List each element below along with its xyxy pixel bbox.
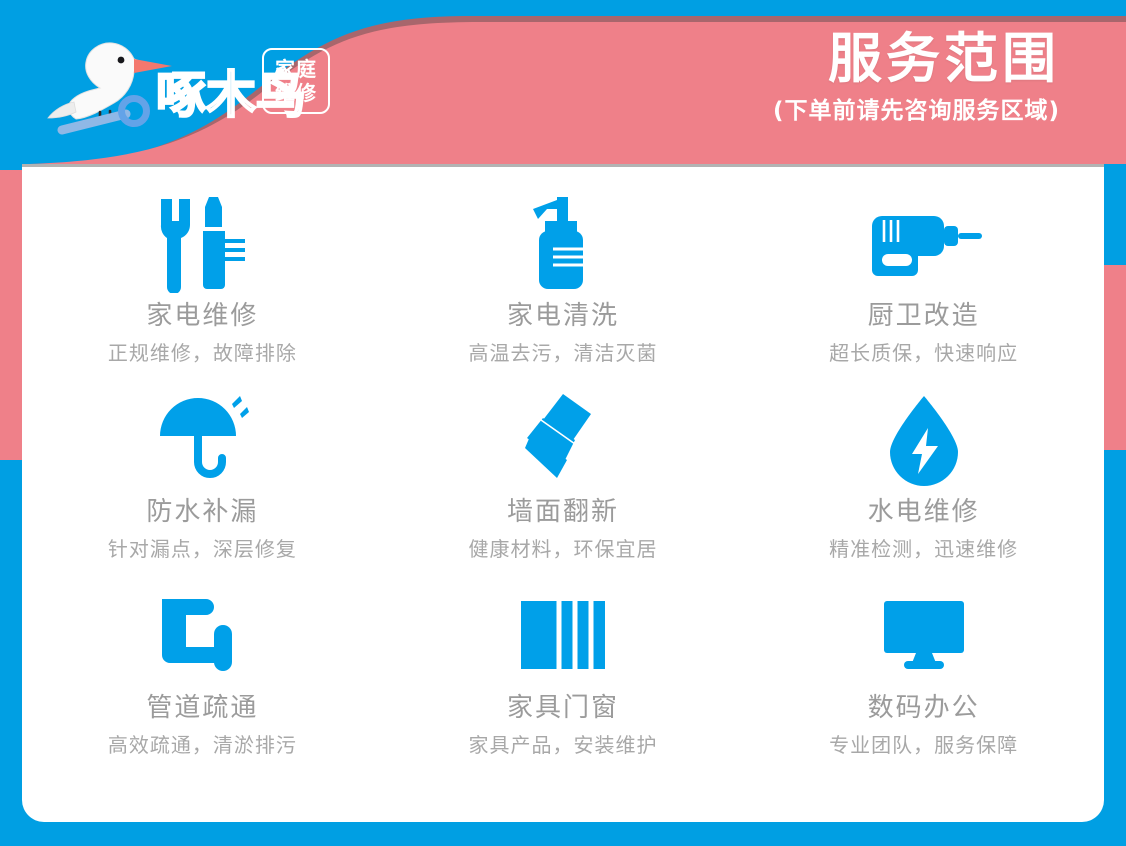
umbrella-icon [152,387,252,491]
water-drop-bolt-icon [882,387,966,491]
service-desc: 健康材料，环保宜居 [468,535,657,563]
service-desc: 超长质保，快速响应 [829,339,1018,367]
service-item-5[interactable]: 水电维修 精准检测，迅速维修 [743,387,1104,583]
service-title: 管道疏通 [146,691,258,725]
services-grid: 家电维修 正规维修，故障排除 [22,191,1104,779]
service-desc: 专业团队，服务保障 [829,731,1018,759]
header-banner: 啄木鸟 家庭 维修 服务范围 (下单前请先咨询服务区域) [0,0,1126,164]
service-item-6[interactable]: 管道疏通 高效疏通，清淤排污 [22,583,383,779]
page-title: 服务范围 [773,26,1060,92]
service-title: 家具门窗 [507,691,619,725]
service-item-0[interactable]: 家电维修 正规维修，故障排除 [22,191,383,387]
paint-brush-icon [513,387,613,491]
logo-badge: 家庭 维修 [262,48,330,114]
service-title: 数码办公 [868,691,980,725]
page-subtitle: (下单前请先咨询服务区域) [773,94,1060,128]
services-card: 家电维修 正规维修，故障排除 [22,164,1104,822]
service-title: 墙面翻新 [507,495,619,529]
logo-badge-line1: 家庭 [275,57,317,81]
spray-bottle-icon [513,191,613,295]
power-drill-icon [864,191,984,295]
service-desc: 家具产品，安装维护 [468,731,657,759]
edge-strip-left-pink [0,170,22,460]
service-title: 厨卫改造 [868,299,980,333]
service-item-3[interactable]: 防水补漏 针对漏点，深层修复 [22,387,383,583]
service-item-8[interactable]: 数码办公 专业团队，服务保障 [743,583,1104,779]
service-item-2[interactable]: 厨卫改造 超长质保，快速响应 [743,191,1104,387]
pipe-icon [152,583,252,687]
service-desc: 针对漏点，深层修复 [108,535,297,563]
window-icon [515,583,611,687]
monitor-icon [876,583,972,687]
poster-root: 啄木鸟 家庭 维修 服务范围 (下单前请先咨询服务区域) [0,0,1126,846]
edge-strip-right-pink [1104,265,1126,450]
service-title: 防水补漏 [146,495,258,529]
header-text-block: 服务范围 (下单前请先咨询服务区域) [773,26,1060,128]
service-title: 家电清洗 [507,299,619,333]
service-desc: 高温去污，清洁灭菌 [468,339,657,367]
wrench-screwdriver-icon [147,191,257,295]
service-title: 水电维修 [868,495,980,529]
service-title: 家电维修 [146,299,258,333]
service-item-4[interactable]: 墙面翻新 健康材料，环保宜居 [383,387,744,583]
logo-badge-line2: 维修 [275,81,317,105]
bird-graphic [48,43,172,130]
service-item-7[interactable]: 家具门窗 家具产品，安装维护 [383,583,744,779]
service-item-1[interactable]: 家电清洗 高温去污，清洁灭菌 [383,191,744,387]
service-desc: 精准检测，迅速维修 [829,535,1018,563]
service-desc: 正规维修，故障排除 [108,339,297,367]
service-desc: 高效疏通，清淤排污 [108,731,297,759]
